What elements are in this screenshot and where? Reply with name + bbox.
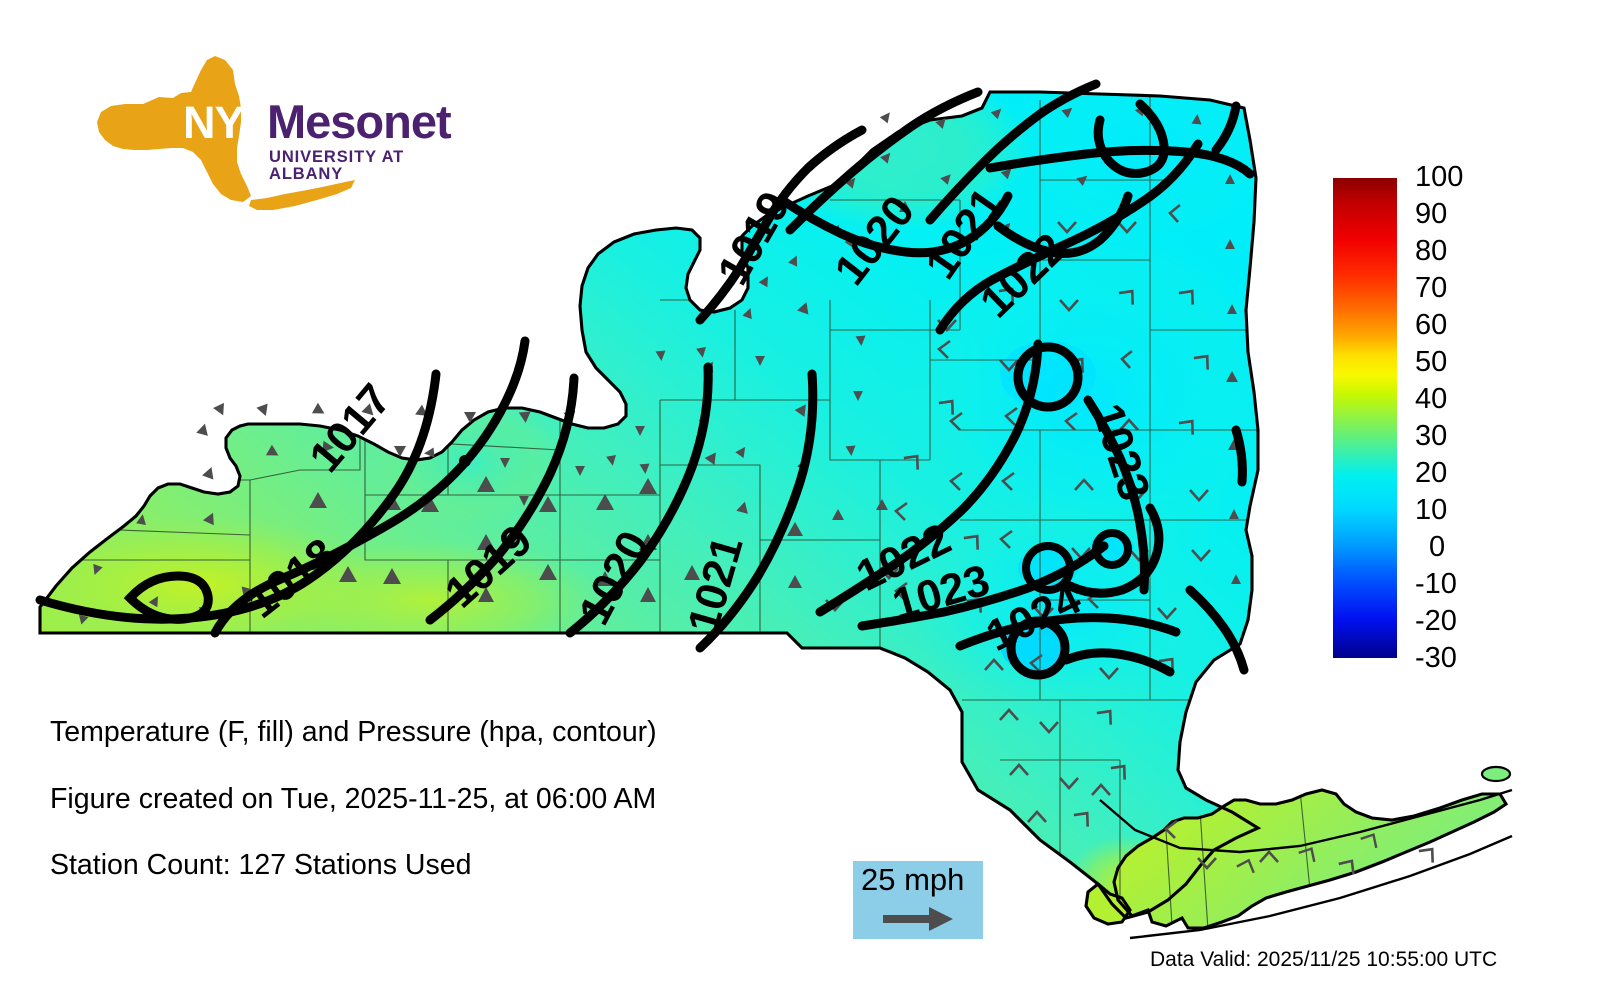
colorbar-gradient [1333,178,1397,658]
nys-mesonet-logo: NYS Mesonet UNIVERSITY AT ALBANY [55,48,455,218]
wind-legend-label: 25 mph [861,864,964,895]
colorbar-tick: 70 [1415,274,1447,303]
logo-subtitle: UNIVERSITY AT ALBANY [269,149,455,182]
colorbar-tick: -30 [1415,644,1457,673]
colorbar-tick: 60 [1415,311,1447,340]
caption-station-count: Station Count: 127 Stations Used [50,851,830,880]
caption-created: Figure created on Tue, 2025-11-25, at 06… [50,785,830,814]
figure-caption: Temperature (F, fill) and Pressure (hpa,… [50,718,830,918]
colorbar-tick: -10 [1415,570,1457,599]
colorbar-tick: -20 [1415,607,1457,636]
temperature-colorbar [1333,178,1397,658]
colorbar-tick: 0 [1429,533,1445,562]
right-arrow-icon [883,905,957,933]
caption-variables: Temperature (F, fill) and Pressure (hpa,… [50,718,830,747]
colorbar-tick: 100 [1415,163,1463,192]
colorbar-tick: 20 [1415,459,1447,488]
colorbar-tick: 90 [1415,200,1447,229]
logo-nys-text: NYS [183,100,273,145]
colorbar-tick-labels: 100 90 80 70 60 50 40 30 20 10 0 -10 -20… [1415,163,1535,683]
data-valid-timestamp: Data Valid: 2025/11/25 10:55:00 UTC [1150,949,1497,970]
colorbar-tick: 50 [1415,348,1447,377]
colorbar-tick: 10 [1415,496,1447,525]
colorbar-tick: 30 [1415,422,1447,451]
colorbar-tick: 80 [1415,237,1447,266]
logo-mesonet-text: Mesonet [267,98,451,145]
wind-scale-legend: 25 mph [853,861,983,939]
colorbar-tick: 40 [1415,385,1447,414]
